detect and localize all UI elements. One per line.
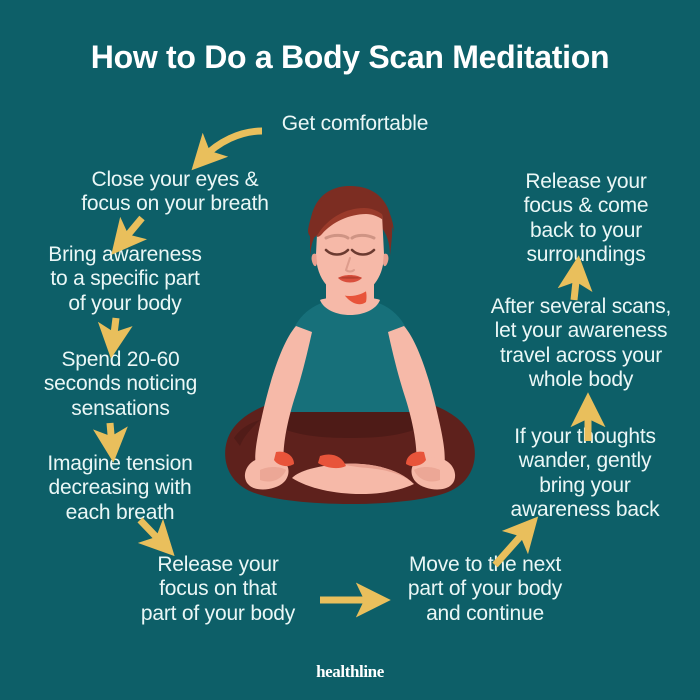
page-title: How to Do a Body Scan Meditation — [0, 40, 700, 75]
step-bring-awareness: Bring awareness to a specific part of yo… — [20, 243, 230, 316]
arrow-to-imagine-tension — [110, 423, 112, 446]
step-release-your-focus: Release your focus on that part of your … — [118, 553, 318, 626]
head-group — [308, 186, 394, 296]
arrow-to-spend-seconds — [113, 318, 116, 342]
step-release-come-back: Release your focus & come back to your s… — [488, 170, 684, 267]
step-close-your-eyes: Close your eyes & focus on your breath — [55, 168, 295, 217]
step-after-several-scans: After several scans, let your awareness … — [470, 295, 692, 392]
arrow-to-bring-awareness — [122, 218, 142, 242]
step-move-to-the-next: Move to the next part of your body and c… — [385, 553, 585, 626]
meditating-person-illustration — [200, 180, 500, 560]
arrow-to-close-eyes — [203, 131, 262, 158]
step-get-comfortable: Get comfortable — [255, 112, 455, 136]
step-if-your-thoughts: If your thoughts wander, gently bring yo… — [485, 425, 685, 522]
step-spend-20-60-seconds: Spend 20-60 seconds noticing sensations — [18, 348, 223, 421]
healthline-logo: healthline — [0, 662, 700, 682]
step-imagine-tension: Imagine tension decreasing with each bre… — [16, 452, 224, 525]
infographic-canvas: How to Do a Body Scan Meditation — [0, 0, 700, 700]
